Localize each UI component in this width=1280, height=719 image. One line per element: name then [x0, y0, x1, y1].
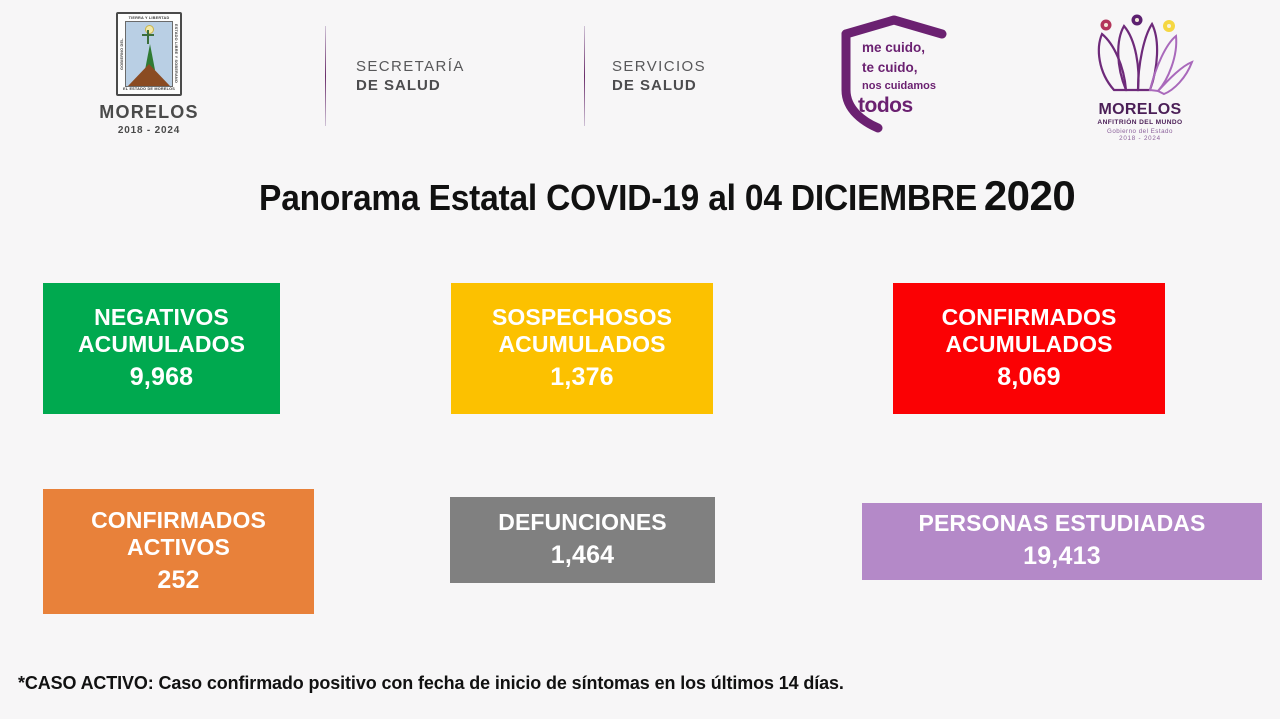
rim-bottom-text: EL ESTADO DE MORELOS — [118, 87, 180, 92]
header-divider-1 — [325, 26, 326, 126]
secretaria-line-1: SECRETARÍA — [356, 57, 465, 76]
stat-value: 1,464 — [551, 540, 615, 571]
servicios-line-1: SERVICIOS — [612, 57, 706, 76]
coat-of-arms-field — [125, 21, 173, 87]
header-logo-bar: TIERRA Y LIBERTAD EL ESTADO DE MORELOS G… — [0, 0, 1280, 152]
stat-card-defunciones: DEFUNCIONES 1,464 — [450, 497, 715, 583]
flor-wordmark: MORELOS — [1080, 101, 1200, 119]
morelos-coat-of-arms-logo: TIERRA Y LIBERTAD EL ESTADO DE MORELOS G… — [90, 12, 208, 134]
flor-subtitle-1: ANFITRIÓN DEL MUNDO — [1080, 119, 1200, 126]
stat-label: PERSONAS ESTUDIADAS — [919, 510, 1206, 537]
stat-label: NEGATIVOS ACUMULADOS — [78, 304, 245, 358]
page-title-year: 2020 — [984, 172, 1075, 219]
page-title: Panorama Estatal COVID-19 al 04 DICIEMBR… — [0, 172, 1280, 220]
stat-card-sospechosos-acumulados: SOSPECHOSOS ACUMULADOS 1,376 — [451, 283, 713, 414]
header-divider-2 — [584, 26, 585, 126]
stat-value: 19,413 — [1023, 541, 1101, 572]
secretaria-de-salud-logo: SECRETARÍA DE SALUD — [356, 57, 465, 95]
secretaria-line-2: DE SALUD — [356, 76, 465, 95]
slogan-line-2: te cuido, — [862, 60, 918, 75]
stat-label: CONFIRMADOS ACTIVOS — [91, 507, 266, 561]
morelos-anfitrion-logo: MORELOS ANFITRIÓN DEL MUNDO Gobierno del… — [1080, 10, 1200, 140]
flor-subtitle-3: 2018 - 2024 — [1080, 135, 1200, 142]
stat-value: 1,376 — [550, 362, 614, 393]
stat-label: SOSPECHOSOS ACUMULADOS — [492, 304, 672, 358]
morelos-wordmark: MORELOS — [90, 102, 208, 123]
morelos-years: 2018 - 2024 — [90, 125, 208, 136]
slogan-line-1: me cuido, — [862, 40, 925, 55]
mountain-icon — [128, 64, 170, 86]
flower-icon — [1080, 10, 1200, 98]
footnote-caso-activo: *CASO ACTIVO: Caso confirmado positivo c… — [18, 672, 844, 694]
slogan-line-3: nos cuidamos — [862, 80, 936, 92]
rim-right-text: ESTADO LIBRE Y SOBERANO — [173, 14, 179, 94]
flor-subtitle-2: Gobierno del Estado — [1080, 128, 1200, 135]
stat-value: 9,968 — [130, 362, 194, 393]
me-cuido-campaign-logo: me cuido, te cuido, nos cuidamos todos — [826, 12, 958, 134]
stat-label: CONFIRMADOS ACUMULADOS — [942, 304, 1117, 358]
stat-label: DEFUNCIONES — [498, 509, 667, 536]
coat-of-arms-icon: TIERRA Y LIBERTAD EL ESTADO DE MORELOS G… — [116, 12, 182, 96]
cross-icon — [147, 30, 149, 44]
servicios-line-2: DE SALUD — [612, 76, 706, 95]
page-title-main: Panorama Estatal COVID-19 al 04 DICIEMBR… — [259, 177, 977, 219]
stat-card-negativos-acumulados: NEGATIVOS ACUMULADOS 9,968 — [43, 283, 280, 414]
stat-card-personas-estudiadas: PERSONAS ESTUDIADAS 19,413 — [862, 503, 1262, 580]
stat-card-confirmados-activos: CONFIRMADOS ACTIVOS 252 — [43, 489, 314, 614]
stat-value: 8,069 — [997, 362, 1061, 393]
servicios-de-salud-logo: SERVICIOS DE SALUD — [612, 57, 706, 95]
stat-value: 252 — [157, 565, 199, 596]
stat-card-confirmados-acumulados: CONFIRMADOS ACUMULADOS 8,069 — [893, 283, 1165, 414]
slogan-line-4: todos — [858, 94, 913, 118]
